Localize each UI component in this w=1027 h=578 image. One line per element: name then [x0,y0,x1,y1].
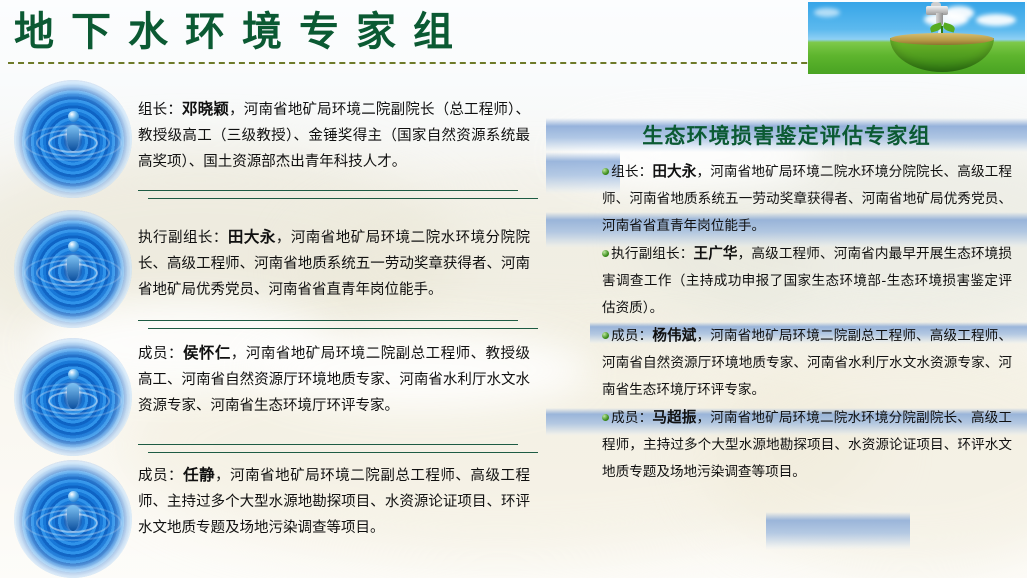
divider-line [138,190,518,191]
member-description: 组长：邓晓颖，河南省地矿局环境二院副院长（总工程师）、教授级高工（三级教授）、金… [138,96,530,175]
splash-bead [68,111,79,122]
member-role: 成员： [611,328,652,344]
member-description: 成员：任静，河南省地矿局环境二院副总工程师、高级工程师、主持过多个大型水源地勘探… [138,462,530,541]
list-item: 成员：杨伟斌，河南省地矿局环境二院副总工程师、高级工程师、河南省自然资源厅环境地… [602,322,1012,404]
water-conservation-banner-image [808,2,1025,74]
splash-bead [68,491,79,502]
member-role: 组长： [138,102,182,118]
member-role: 组长： [611,164,652,180]
green-dot-bullet-icon [602,168,609,175]
slide-root: 地下水环境专家组 组长：邓晓颖，河南省地矿局环境二院副院长（总 [0,0,1027,578]
divider-line [148,328,538,329]
water-droplet-ripple-icon [14,460,132,578]
member-role: 成员： [138,468,183,484]
eco-damage-member-list: 组长：田大永，河南省地矿局环境二院水环境分院院长、高级工程师、河南省地质系统五一… [602,158,1012,486]
member-description: 执行副组长：田大永，河南省地矿局环境二院水环境分院院长、高级工程师、河南省地质系… [138,224,530,303]
member-role: 执行副组长： [138,230,228,246]
member-name: 田大永 [228,228,276,246]
section-divider [0,444,540,460]
member-name: 马超振 [652,409,696,426]
divider-line [138,444,518,445]
page-title: 地下水环境专家组 [14,8,470,56]
groundwater-expert-group-list: 组长：邓晓颖，河南省地矿局环境二院副院长（总工程师）、教授级高工（三级教授）、金… [0,72,540,578]
divider-line [138,320,518,321]
eco-damage-expert-group-header: 生态环境损害鉴定评估专家组 [546,118,1027,152]
member-name: 邓晓颖 [182,100,229,118]
splash-column [67,125,79,151]
member-role: 成员： [611,410,652,426]
member-name: 杨伟斌 [652,327,696,344]
divider-line [148,452,538,453]
earth-bowl-rim-icon [890,33,994,45]
member-description: 成员：侯怀仁，河南省地矿局环境二院副总工程师、教授级高工、河南省自然资源厅环境地… [138,340,530,419]
green-dot-bullet-icon [602,414,609,421]
list-item: 成员：马超振，河南省地矿局环境二院水环境分院副院长、高级工程师，主持过多个大型水… [602,404,1012,486]
section-title: 生态环境损害鉴定评估专家组 [642,120,931,150]
cloud-icon [976,14,1016,26]
splash-column [67,383,79,409]
water-droplet-ripple-icon [14,338,132,456]
cloud-icon [944,6,974,20]
splash-bead [68,369,79,380]
eco-damage-expert-group-panel: 生态环境损害鉴定评估专家组 组长：田大永，河南省地矿局环境二院水环境分院院长、高… [546,96,1027,566]
member-role: 成员： [138,346,183,362]
list-item: 执行副组长：王广华，高级工程师、河南省内最早开展生态环境损害调查工作（主持成功申… [602,240,1012,322]
water-droplet-ripple-icon [14,80,132,198]
splash-bead [68,241,79,252]
section-divider [0,190,540,206]
splash-column [67,505,79,531]
cloud-icon [814,8,840,17]
section-divider [0,320,540,336]
green-dot-bullet-icon [602,250,609,257]
divider-line [148,198,538,199]
member-name: 王广华 [693,245,737,262]
member-name: 任静 [183,466,215,484]
green-dot-bullet-icon [602,332,609,339]
splash-column [67,255,79,281]
member-name: 田大永 [652,163,696,180]
water-droplet-ripple-icon [14,210,132,328]
list-item: 组长：田大永，河南省地矿局环境二院水环境分院院长、高级工程师、河南省地质系统五一… [602,158,1012,240]
member-role: 执行副组长： [611,246,693,262]
member-name: 侯怀仁 [183,344,231,362]
